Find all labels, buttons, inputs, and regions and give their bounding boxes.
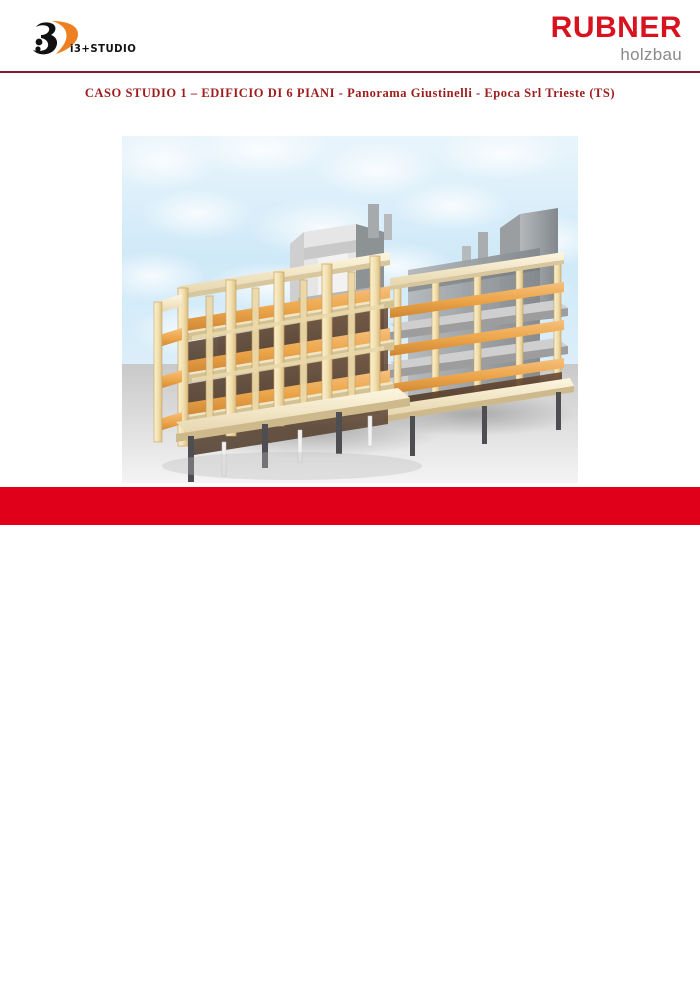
footer-url-text: www.rubner.com: [594, 990, 667, 1000]
i3-studio-logo: i3+STUDIO: [26, 18, 156, 62]
i3-studio-logo-mark-icon: [26, 18, 156, 62]
building-3d-render-illustration: [122, 136, 578, 483]
slide-footer: www.rubner.com: [0, 487, 700, 525]
slide-header: i3+STUDIO RUBNER holzbau: [0, 0, 700, 72]
i3-studio-wordmark: i3+STUDIO: [70, 42, 136, 55]
rubner-brand-wordmark: RUBNER: [551, 12, 682, 44]
header-divider: [0, 71, 700, 73]
render-image: [122, 136, 578, 483]
rubner-subtitle: holzbau: [551, 45, 682, 64]
page-title: CASO STUDIO 1 – EDIFICIO DI 6 PIANI - Pa…: [0, 86, 700, 101]
rubner-logo: RUBNER holzbau: [551, 12, 682, 64]
